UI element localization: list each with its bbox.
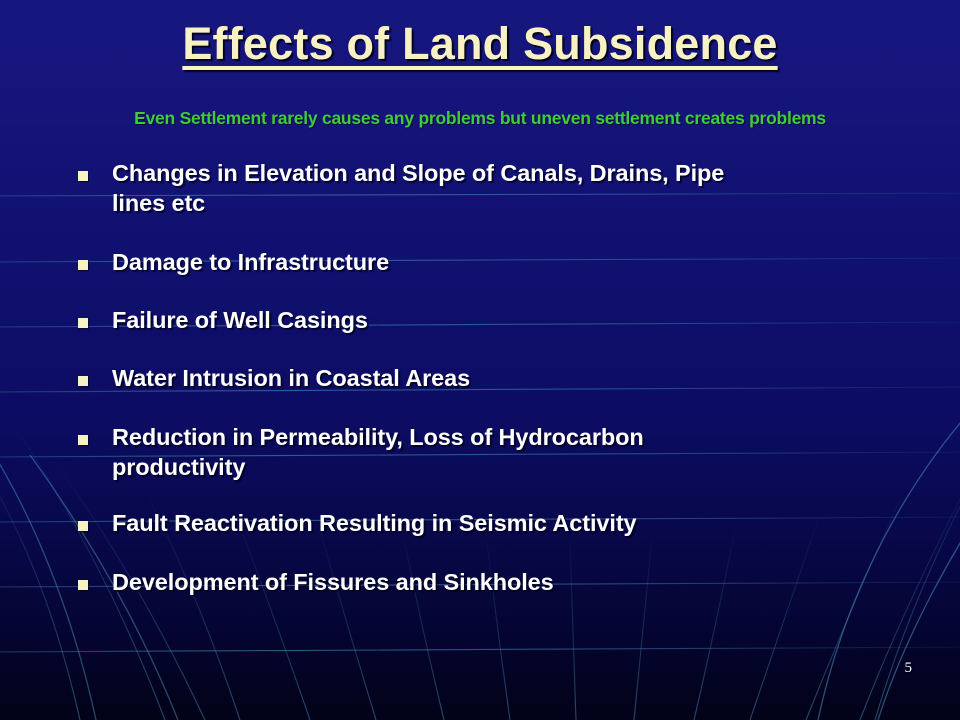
square-bullet-icon [78,580,88,590]
square-bullet-icon [78,521,88,531]
list-item-label: Damage to Infrastructure [112,249,389,275]
square-bullet-icon [78,318,88,328]
page-number: 5 [905,660,913,677]
list-item: Development of Fissures and Sinkholes [60,567,920,597]
square-bullet-icon [78,376,88,386]
list-item: Damage to Infrastructure [60,247,920,277]
slide-subtitle-container: Even Settlement rarely causes any proble… [0,108,960,129]
list-item: Water Intrusion in Coastal Areas [60,363,920,393]
list-item-label: Changes in Elevation and Slope of Canals… [112,160,724,216]
list-item: Failure of Well Casings [60,305,920,335]
presentation-slide: Effects of Land Subsidence Even Settleme… [0,0,960,720]
list-item-label: Reduction in Permeability, Loss of Hydro… [112,424,644,480]
list-item-label: Fault Reactivation Resulting in Seismic … [112,510,637,536]
list-item: Fault Reactivation Resulting in Seismic … [60,508,920,538]
list-item: Changes in Elevation and Slope of Canals… [60,158,920,219]
slide-title-container: Effects of Land Subsidence [0,18,960,70]
slide-subtitle: Even Settlement rarely causes any proble… [134,108,826,129]
square-bullet-icon [78,260,88,270]
list-item: Reduction in Permeability, Loss of Hydro… [60,422,920,483]
list-item-label: Water Intrusion in Coastal Areas [112,365,470,391]
list-item-label: Development of Fissures and Sinkholes [112,569,554,595]
bullet-list: Changes in Elevation and Slope of Canals… [60,158,920,621]
list-item-label: Failure of Well Casings [112,307,368,333]
square-bullet-icon [78,171,88,181]
slide-title: Effects of Land Subsidence [182,18,777,70]
square-bullet-icon [78,435,88,445]
